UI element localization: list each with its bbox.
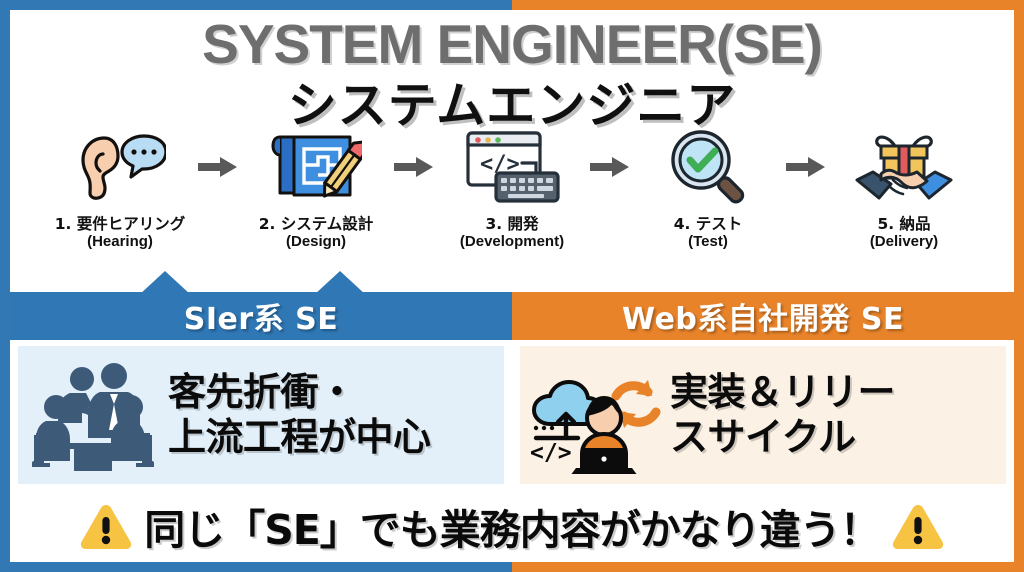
panel-text-web: 実装＆リリー スサイクル (670, 370, 1006, 460)
warning-text: 同じ「SE」でも業務内容がかなり違う！ (144, 496, 880, 556)
infographic-canvas: SYSTEM ENGINEER(SE) システムエンジニア 1. 要件ヒアリング… (0, 0, 1024, 572)
flow-step-label: 5. 納品 (877, 215, 930, 233)
category-bar-sier[interactable]: SIer系 SE (10, 292, 512, 340)
category-bar-label: SIer系 SE (184, 294, 338, 338)
arrow-right-icon (196, 125, 240, 209)
panel-text-line1: 客先折衝・ (168, 370, 356, 414)
warning-triangle-icon (78, 501, 134, 551)
panel-sier: 客先折衝・ 上流工程が中心 (18, 346, 504, 484)
flow-step-sublabel: (Development) (460, 233, 564, 251)
panel-text-line2: スサイクル (670, 415, 1006, 460)
flow-step-sublabel: (Hearing) (87, 233, 153, 251)
code-window-keyboard-icon: </> (457, 125, 567, 209)
panel-text-line1: 実装＆リリー (670, 370, 895, 414)
process-flow: 1. 要件ヒアリング (Hearing) (20, 125, 1004, 275)
panel-web: </> 実装＆リリー スサイクル (520, 346, 1006, 484)
handshake-gift-icon (849, 125, 959, 209)
developer-cloud-cycle-icon: </> (520, 350, 670, 480)
frame-bottom-left (0, 562, 512, 572)
magnifier-check-icon (653, 125, 763, 209)
category-bar-label: Web系自社開発 SE (622, 294, 904, 338)
flow-step-sublabel: (Test) (688, 233, 728, 251)
frame-left-edge (0, 0, 10, 572)
ear-speech-bubble-icon (65, 125, 175, 209)
flow-step-3: </> 3. 開発 (Development) (436, 125, 588, 251)
flow-step-label: 3. 開発 (485, 215, 538, 233)
frame-top-right (512, 0, 1024, 10)
frame-top-left (0, 0, 512, 10)
svg-text:</>: </> (530, 440, 572, 466)
bottom-warning-banner: 同じ「SE」でも業務内容がかなり違う！ (10, 490, 1014, 562)
warning-triangle-icon (890, 501, 946, 551)
arrow-right-icon (392, 125, 436, 209)
flow-step-label: 1. 要件ヒアリング (55, 215, 186, 233)
blueprint-pencil-icon (261, 125, 371, 209)
flow-step-5: 5. 納品 (Delivery) (828, 125, 980, 251)
category-bar-web[interactable]: Web系自社開発 SE (512, 292, 1014, 340)
flow-step-4: 4. テスト (Test) (632, 125, 784, 251)
panel-text-line2: 上流工程が中心 (168, 415, 504, 460)
flow-step-sublabel: (Delivery) (870, 233, 938, 251)
flow-step-1: 1. 要件ヒアリング (Hearing) (44, 125, 196, 251)
arrow-right-icon (784, 125, 828, 209)
frame-right-edge (1014, 0, 1024, 572)
frame-bottom-right (512, 562, 1024, 572)
meeting-table-icon (18, 350, 168, 480)
flow-step-label: 4. テスト (674, 215, 743, 233)
flow-step-label: 2. システム設計 (259, 215, 374, 233)
panel-text-sier: 客先折衝・ 上流工程が中心 (168, 370, 504, 460)
flow-step-sublabel: (Design) (286, 233, 346, 251)
flow-step-2: 2. システム設計 (Design) (240, 125, 392, 251)
arrow-right-icon (588, 125, 632, 209)
